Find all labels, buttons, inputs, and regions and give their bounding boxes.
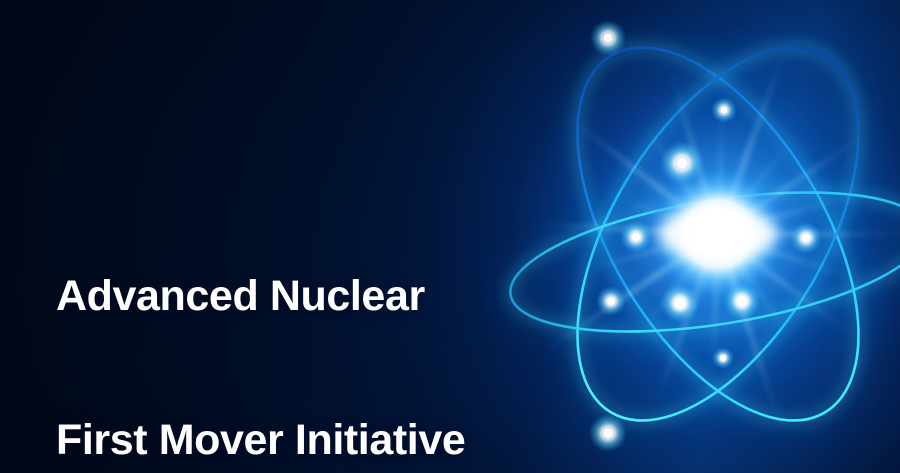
headline-line-2: First Mover Initiative <box>56 416 465 464</box>
headline-line-1: Advanced Nuclear <box>56 272 465 320</box>
advanced-nuclear-banner: Advanced Nuclear First Mover Initiative <box>0 0 900 473</box>
page-title: Advanced Nuclear First Mover Initiative <box>56 176 465 473</box>
